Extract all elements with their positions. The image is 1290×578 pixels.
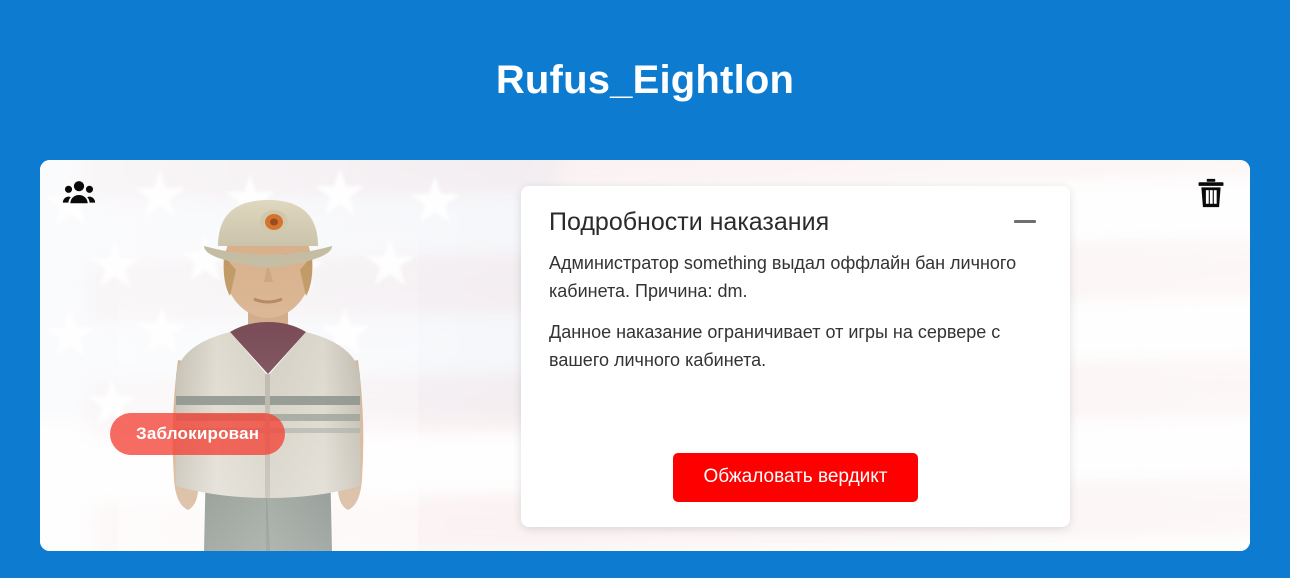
users-group-icon[interactable] (62, 176, 96, 210)
collapse-button[interactable] (1008, 208, 1042, 234)
minus-icon (1014, 220, 1036, 223)
punishment-details-body: Администратор something выдал оффлайн ба… (549, 249, 1042, 375)
page-title: Rufus_Eightlon (496, 60, 794, 100)
appeal-verdict-button[interactable]: Обжаловать вердикт (673, 453, 917, 502)
character-avatar (118, 160, 418, 551)
status-badge: Заблокирован (110, 413, 285, 455)
punishment-details-title: Подробности наказания (549, 208, 829, 237)
punishment-details-footer: Обжаловать вердикт (549, 453, 1042, 527)
profile-panel: Заблокирован Подробности наказания Админ… (40, 160, 1250, 551)
punishment-effect-text: Данное наказание ограничивает от игры на… (549, 318, 1042, 375)
punishment-details-header: Подробности наказания (549, 208, 1042, 237)
punishment-reason-text: Администратор something выдал оффлайн ба… (549, 249, 1042, 306)
trash-bin-icon[interactable] (1194, 176, 1228, 210)
page-header: Rufus_Eightlon (0, 0, 1290, 160)
punishment-details-card: Подробности наказания Администратор some… (521, 186, 1070, 527)
